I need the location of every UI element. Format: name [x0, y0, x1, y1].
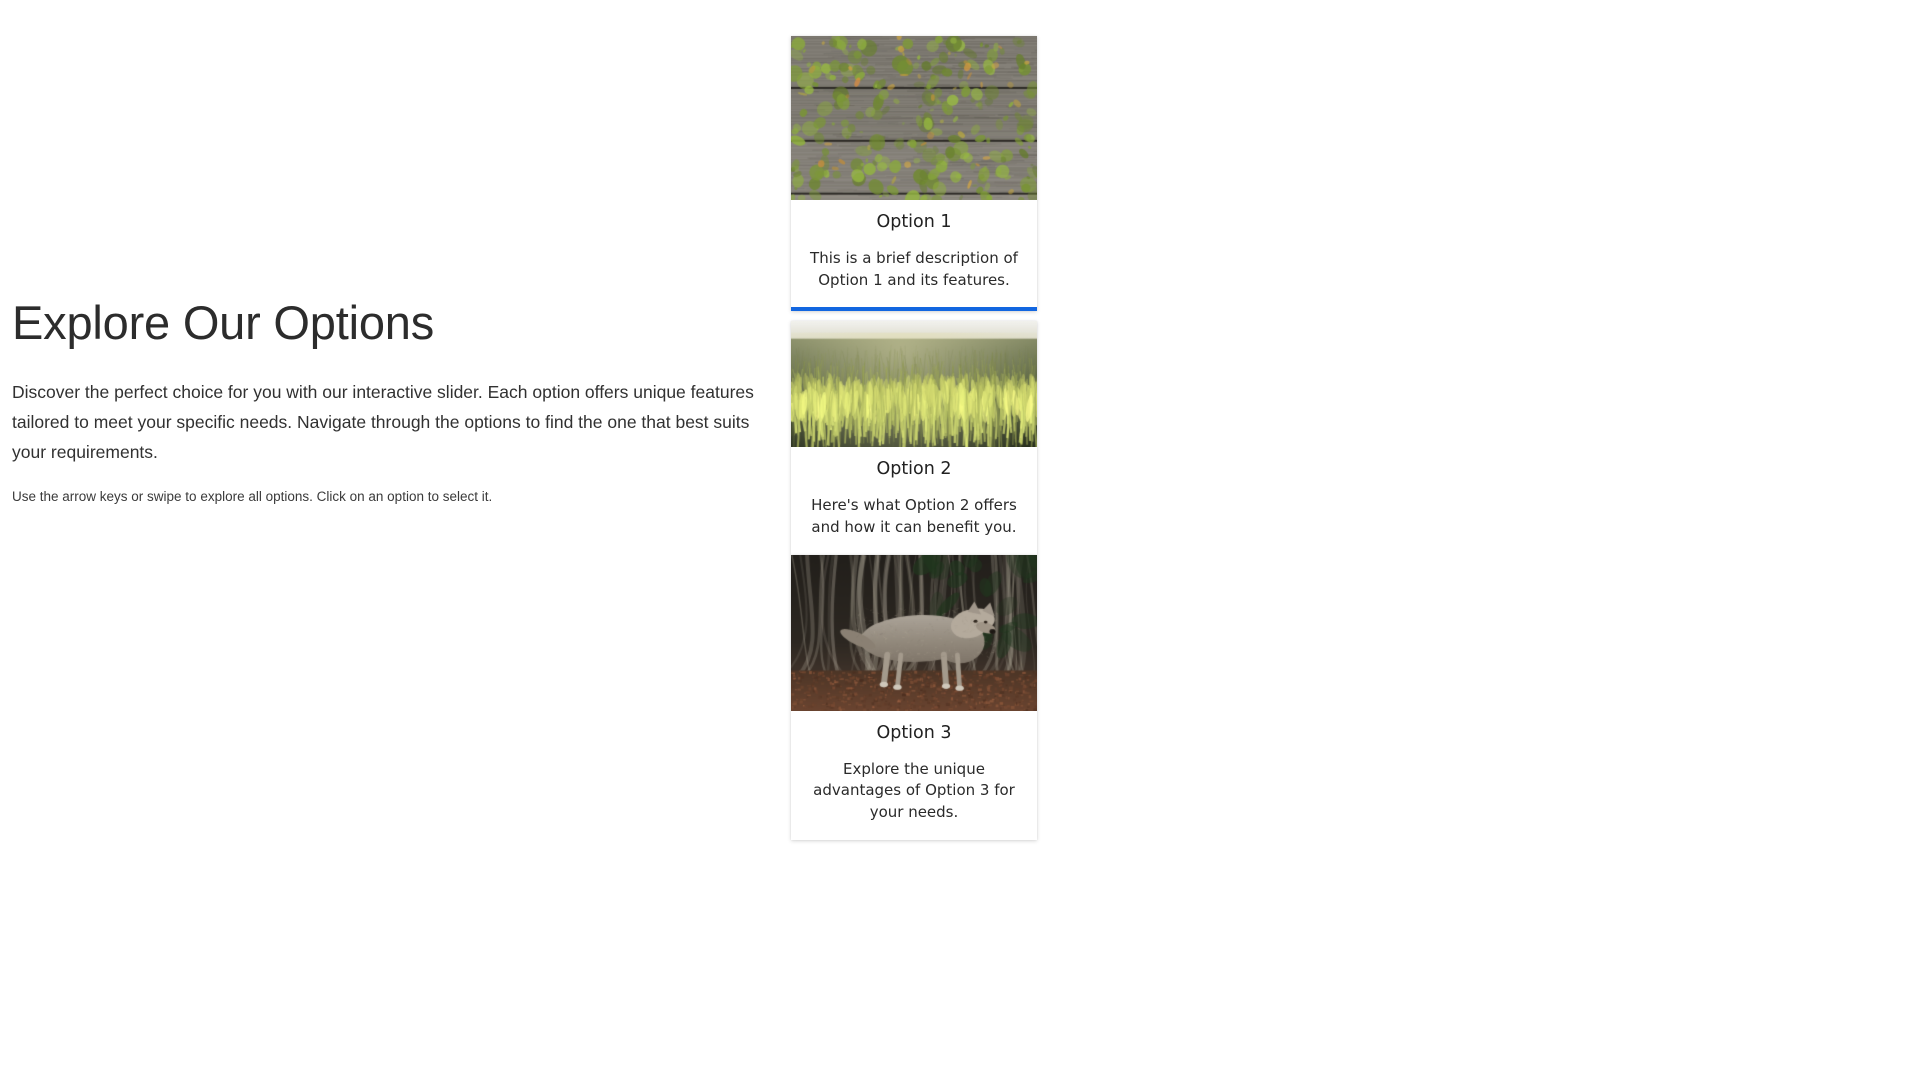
intro-paragraph: Discover the perfect choice for you with… [12, 377, 760, 467]
option-card[interactable]: Option 3 Explore the unique advantages o… [791, 555, 1037, 840]
option-card-description: Here's what Option 2 offers and how it c… [799, 495, 1029, 539]
page-root: Explore Our Options Discover the perfect… [0, 0, 1920, 1080]
option-card-title: Option 1 [799, 212, 1029, 234]
option-card-body: Option 1 This is a brief description of … [791, 200, 1037, 307]
option-card-title: Option 3 [799, 723, 1029, 745]
weathered-wood-planks-with-moss-photo [791, 36, 1037, 200]
option-card-body: Option 3 Explore the unique advantages o… [791, 711, 1037, 840]
option-card[interactable]: Option 1 This is a brief description of … [791, 36, 1037, 311]
options-slider[interactable]: Option 1 This is a brief description of … [791, 36, 1037, 840]
option-card[interactable]: Option 2 Here's what Option 2 offers and… [791, 321, 1037, 554]
page-title: Explore Our Options [12, 296, 772, 351]
option-card-description: This is a brief description of Option 1 … [799, 248, 1029, 292]
option-card-image [791, 555, 1037, 711]
option-card-description: Explore the unique advantages of Option … [799, 759, 1029, 824]
intro-section: Explore Our Options Discover the perfect… [12, 296, 772, 507]
option-card-image [791, 321, 1037, 447]
wheat-field-at-golden-hour-photo [791, 321, 1037, 447]
option-card-title: Option 2 [799, 459, 1029, 481]
intro-hint-text: Use the arrow keys or swipe to explore a… [12, 487, 772, 507]
coyote-in-forest-photo [791, 555, 1037, 711]
option-card-body: Option 2 Here's what Option 2 offers and… [791, 447, 1037, 554]
option-card-image [791, 36, 1037, 200]
